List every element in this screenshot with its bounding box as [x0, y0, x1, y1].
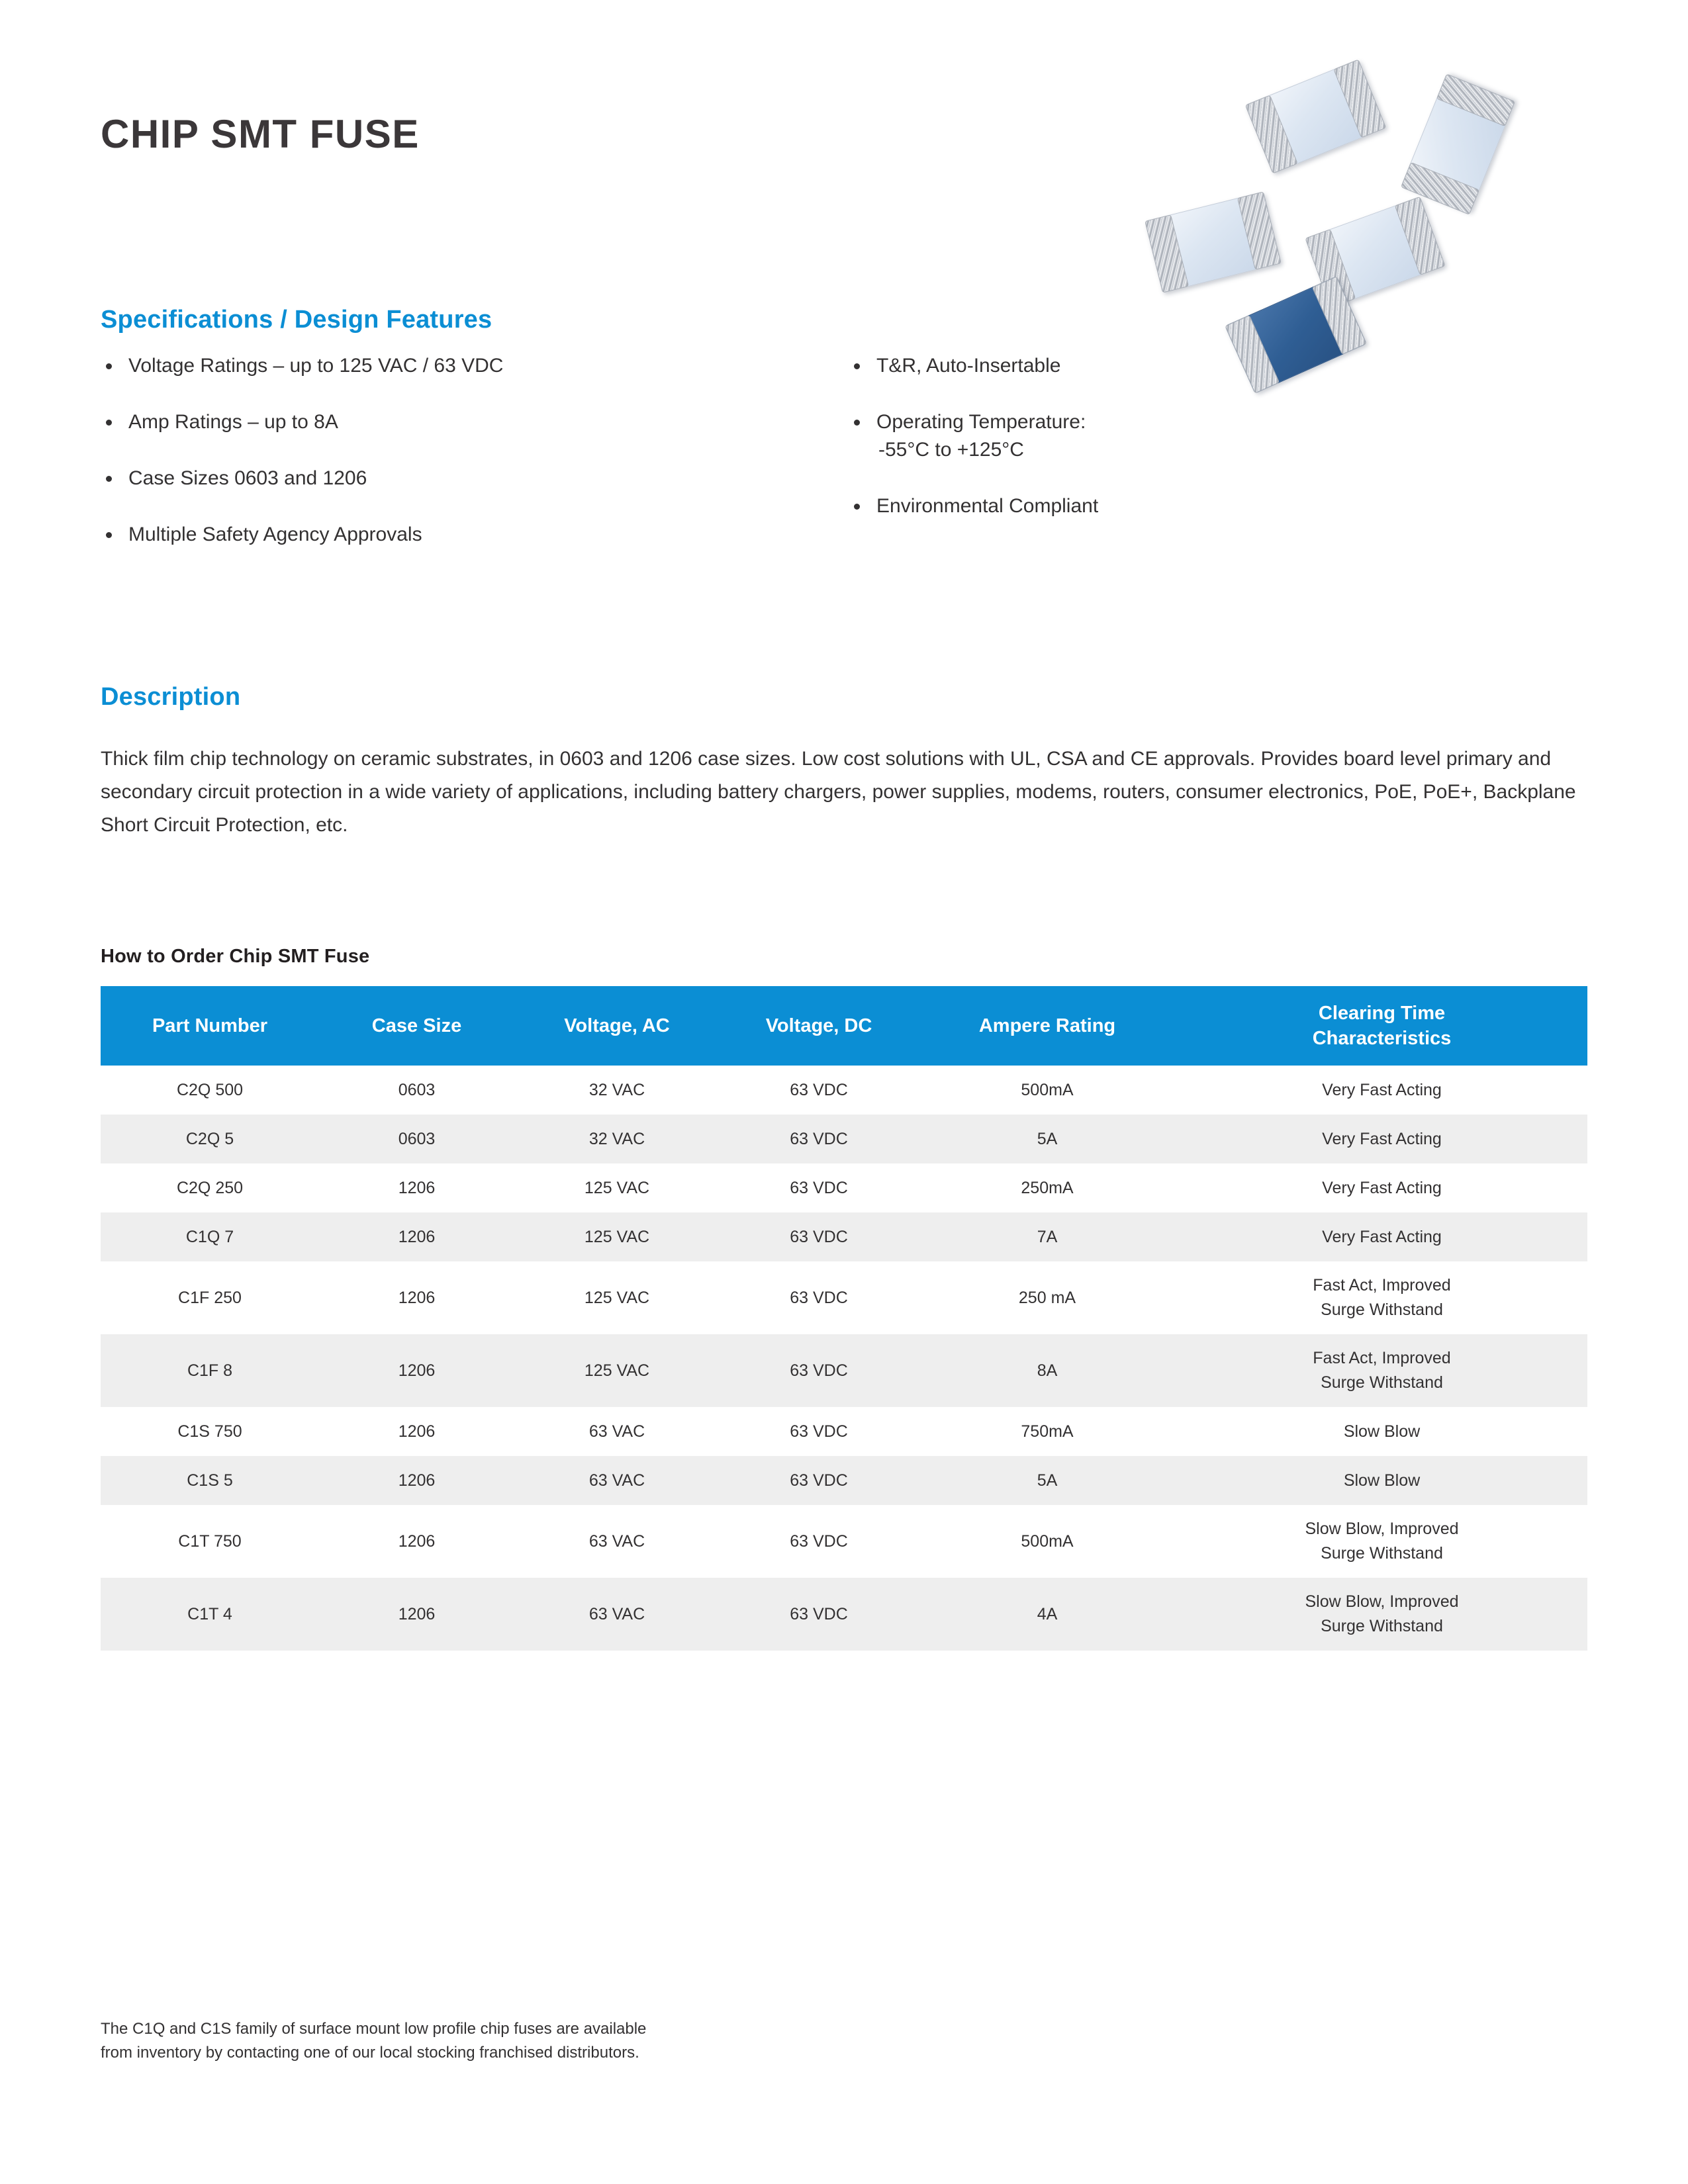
bullet-dot-icon	[106, 420, 112, 426]
cell-case-size: 1206	[319, 1578, 514, 1651]
cell-part-number: C2Q 5	[101, 1115, 319, 1163]
list-item: Environmental Compliant	[849, 492, 1444, 520]
list-item-label: Multiple Safety Agency Approvals	[128, 523, 422, 545]
column-header-voltage-ac: Voltage, AC	[514, 986, 720, 1066]
list-item: Operating Temperature: -55°C to +125°C	[849, 408, 1444, 464]
cell-case-size: 1206	[319, 1163, 514, 1212]
chip-fuse-item	[1245, 59, 1386, 173]
column-header-case-size: Case Size	[319, 986, 514, 1066]
cell-clearing-line1: Fast Act, Improved	[1313, 1349, 1450, 1367]
bullet-dot-icon	[106, 532, 112, 538]
cell-voltage-dc: 63 VDC	[720, 1407, 918, 1456]
specifications-list-right: T&R, Auto-Insertable Operating Temperatu…	[849, 352, 1444, 549]
list-item-label: Amp Ratings – up to 8A	[128, 411, 338, 433]
cell-clearing-time: Very Fast Acting	[1176, 1115, 1587, 1163]
description-heading: Description	[101, 683, 240, 711]
cell-clearing-line1: Slow Blow, Improved	[1305, 1520, 1458, 1538]
table-row: C1T 750120663 VAC63 VDC500mASlow Blow, I…	[101, 1505, 1587, 1578]
chip-fuse-item	[1401, 73, 1515, 214]
cell-clearing-time: Very Fast Acting	[1176, 1066, 1587, 1115]
cell-clearing-line1: Fast Act, Improved	[1313, 1276, 1450, 1295]
cell-clearing-line1: Slow Blow, Improved	[1305, 1592, 1458, 1611]
cell-ampere-rating: 500mA	[918, 1505, 1176, 1578]
table-row: C2Q 500060332 VAC63 VDC500mAVery Fast Ac…	[101, 1066, 1587, 1115]
table-body: C2Q 500060332 VAC63 VDC500mAVery Fast Ac…	[101, 1066, 1587, 1651]
cell-clearing-time: Very Fast Acting	[1176, 1163, 1587, 1212]
list-item-label-line2: -55°C to +125°C	[876, 436, 1444, 464]
list-item-label: T&R, Auto-Insertable	[876, 355, 1060, 377]
cell-clearing-line1: Very Fast Acting	[1322, 1179, 1442, 1197]
column-header-clearing-time: Clearing Time Characteristics	[1176, 986, 1587, 1066]
cell-clearing-line1: Very Fast Acting	[1322, 1228, 1442, 1246]
list-item-label: Operating Temperature:	[876, 411, 1086, 433]
cell-part-number: C1T 750	[101, 1505, 319, 1578]
cell-part-number: C1T 4	[101, 1578, 319, 1651]
table-row: C2Q 5060332 VAC63 VDC5AVery Fast Acting	[101, 1115, 1587, 1163]
list-item: Amp Ratings – up to 8A	[101, 408, 829, 436]
cell-voltage-dc: 63 VDC	[720, 1261, 918, 1334]
cell-case-size: 1206	[319, 1456, 514, 1505]
footer-note-line1: The C1Q and C1S family of surface mount …	[101, 2017, 646, 2041]
table-row: C1F 2501206125 VAC63 VDC250 mAFast Act, …	[101, 1261, 1587, 1334]
list-item: Multiple Safety Agency Approvals	[101, 521, 829, 549]
cell-ampere-rating: 5A	[918, 1456, 1176, 1505]
cell-voltage-ac: 63 VAC	[514, 1578, 720, 1651]
table-header-row: Part Number Case Size Voltage, AC Voltag…	[101, 986, 1587, 1066]
list-item: T&R, Auto-Insertable	[849, 352, 1444, 380]
cell-voltage-dc: 63 VDC	[720, 1578, 918, 1651]
cell-voltage-ac: 125 VAC	[514, 1261, 720, 1334]
column-header-clearing-line1: Clearing Time	[1319, 1003, 1445, 1024]
cell-voltage-ac: 32 VAC	[514, 1115, 720, 1163]
cell-case-size: 1206	[319, 1261, 514, 1334]
cell-case-size: 1206	[319, 1334, 514, 1407]
list-item: Voltage Ratings – up to 125 VAC / 63 VDC	[101, 352, 829, 380]
cell-clearing-time: Slow Blow	[1176, 1407, 1587, 1456]
specifications-list-left: Voltage Ratings – up to 125 VAC / 63 VDC…	[101, 352, 829, 577]
cell-clearing-time: Slow Blow, ImprovedSurge Withstand	[1176, 1505, 1587, 1578]
footer-note: The C1Q and C1S family of surface mount …	[101, 2017, 646, 2065]
cell-case-size: 1206	[319, 1407, 514, 1456]
how-to-order-table: Part Number Case Size Voltage, AC Voltag…	[101, 986, 1587, 1651]
column-header-ampere-rating: Ampere Rating	[918, 986, 1176, 1066]
cell-ampere-rating: 250mA	[918, 1163, 1176, 1212]
description-paragraph: Thick film chip technology on ceramic su…	[101, 743, 1583, 842]
table-row: C1S 5120663 VAC63 VDC5ASlow Blow	[101, 1456, 1587, 1505]
cell-clearing-line1: Very Fast Acting	[1322, 1081, 1442, 1099]
cell-clearing-time: Very Fast Acting	[1176, 1212, 1587, 1261]
cell-part-number: C1F 250	[101, 1261, 319, 1334]
cell-voltage-dc: 63 VDC	[720, 1163, 918, 1212]
table-row: C1F 81206125 VAC63 VDC8AFast Act, Improv…	[101, 1334, 1587, 1407]
cell-case-size: 1206	[319, 1212, 514, 1261]
cell-clearing-time: Slow Blow, ImprovedSurge Withstand	[1176, 1578, 1587, 1651]
cell-part-number: C2Q 250	[101, 1163, 319, 1212]
page-title: CHIP SMT FUSE	[101, 111, 420, 157]
bullet-dot-icon	[106, 476, 112, 482]
cell-clearing-time: Fast Act, ImprovedSurge Withstand	[1176, 1334, 1587, 1407]
footer-note-line2: from inventory by contacting one of our …	[101, 2041, 646, 2065]
cell-part-number: C1Q 7	[101, 1212, 319, 1261]
cell-clearing-line2: Surge Withstand	[1321, 1300, 1443, 1319]
document-page: CHIP SMT FUSE Specifications	[0, 0, 1688, 2184]
how-to-order-heading: How to Order Chip SMT Fuse	[101, 946, 369, 968]
cell-voltage-ac: 63 VAC	[514, 1456, 720, 1505]
cell-voltage-ac: 63 VAC	[514, 1407, 720, 1456]
cell-clearing-time: Fast Act, ImprovedSurge Withstand	[1176, 1261, 1587, 1334]
table-row: C1S 750120663 VAC63 VDC750mASlow Blow	[101, 1407, 1587, 1456]
cell-voltage-ac: 125 VAC	[514, 1334, 720, 1407]
cell-voltage-dc: 63 VDC	[720, 1212, 918, 1261]
column-header-part-number: Part Number	[101, 986, 319, 1066]
cell-ampere-rating: 250 mA	[918, 1261, 1176, 1334]
cell-part-number: C1S 750	[101, 1407, 319, 1456]
column-header-clearing-line2: Characteristics	[1313, 1028, 1452, 1049]
cell-ampere-rating: 4A	[918, 1578, 1176, 1651]
cell-voltage-dc: 63 VDC	[720, 1505, 918, 1578]
cell-voltage-ac: 125 VAC	[514, 1163, 720, 1212]
list-item-label: Environmental Compliant	[876, 495, 1098, 517]
list-item: Case Sizes 0603 and 1206	[101, 465, 829, 492]
cell-case-size: 0603	[319, 1066, 514, 1115]
chip-fuse-item	[1145, 191, 1282, 293]
cell-voltage-dc: 63 VDC	[720, 1456, 918, 1505]
cell-case-size: 0603	[319, 1115, 514, 1163]
cell-voltage-ac: 63 VAC	[514, 1505, 720, 1578]
cell-voltage-ac: 32 VAC	[514, 1066, 720, 1115]
list-item-label: Voltage Ratings – up to 125 VAC / 63 VDC	[128, 355, 503, 377]
cell-ampere-rating: 8A	[918, 1334, 1176, 1407]
list-item-label: Case Sizes 0603 and 1206	[128, 467, 367, 489]
cell-voltage-dc: 63 VDC	[720, 1066, 918, 1115]
cell-voltage-dc: 63 VDC	[720, 1115, 918, 1163]
cell-case-size: 1206	[319, 1505, 514, 1578]
cell-clearing-line1: Slow Blow	[1344, 1471, 1420, 1490]
bullet-dot-icon	[854, 363, 860, 369]
cell-clearing-line1: Slow Blow	[1344, 1422, 1420, 1441]
column-header-voltage-dc: Voltage, DC	[720, 986, 918, 1066]
cell-clearing-line1: Very Fast Acting	[1322, 1130, 1442, 1148]
cell-clearing-line2: Surge Withstand	[1321, 1373, 1443, 1392]
cell-voltage-dc: 63 VDC	[720, 1334, 918, 1407]
cell-ampere-rating: 750mA	[918, 1407, 1176, 1456]
cell-voltage-ac: 125 VAC	[514, 1212, 720, 1261]
cell-ampere-rating: 7A	[918, 1212, 1176, 1261]
cell-ampere-rating: 500mA	[918, 1066, 1176, 1115]
cell-part-number: C1F 8	[101, 1334, 319, 1407]
cell-clearing-line2: Surge Withstand	[1321, 1617, 1443, 1635]
table-row: C2Q 2501206125 VAC63 VDC250mAVery Fast A…	[101, 1163, 1587, 1212]
specifications-heading: Specifications / Design Features	[101, 306, 492, 334]
cell-clearing-line2: Surge Withstand	[1321, 1544, 1443, 1563]
table-row: C1Q 71206125 VAC63 VDC7AVery Fast Acting	[101, 1212, 1587, 1261]
cell-part-number: C1S 5	[101, 1456, 319, 1505]
cell-ampere-rating: 5A	[918, 1115, 1176, 1163]
cell-clearing-time: Slow Blow	[1176, 1456, 1587, 1505]
table-row: C1T 4120663 VAC63 VDC4ASlow Blow, Improv…	[101, 1578, 1587, 1651]
bullet-dot-icon	[106, 363, 112, 369]
table-header: Part Number Case Size Voltage, AC Voltag…	[101, 986, 1587, 1066]
cell-part-number: C2Q 500	[101, 1066, 319, 1115]
bullet-dot-icon	[854, 504, 860, 510]
bullet-dot-icon	[854, 420, 860, 426]
